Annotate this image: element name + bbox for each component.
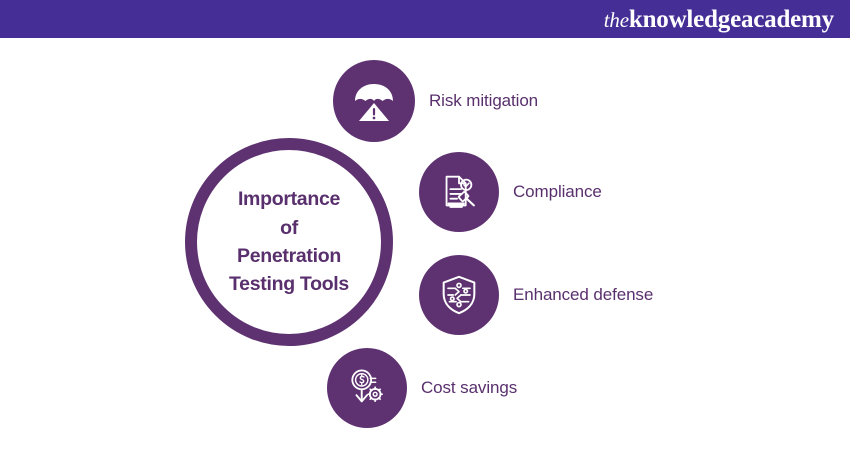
coin-gear-arrow-icon [344, 365, 390, 411]
node-risk-mitigation: Risk mitigation [333, 60, 538, 142]
page-header: theknowledgeacademy [0, 0, 850, 38]
central-topic-line-4: Testing Tools [199, 270, 379, 298]
compliance-icon-circle [419, 152, 499, 232]
diagram-canvas: Importance of Penetration Testing Tools [0, 38, 850, 450]
node-enhanced-defense: Enhanced defense [419, 255, 653, 335]
central-topic-circle: Importance of Penetration Testing Tools [185, 138, 393, 346]
risk-mitigation-label: Risk mitigation [429, 91, 538, 111]
circuit-shield-icon [436, 272, 482, 318]
enhanced-defense-label: Enhanced defense [513, 285, 653, 305]
umbrella-warning-icon [350, 77, 398, 125]
brand-logo: theknowledgeacademy [604, 7, 834, 32]
central-topic-line-1: Importance [199, 185, 379, 213]
cost-savings-icon-circle [327, 348, 407, 428]
risk-mitigation-icon-circle [333, 60, 415, 142]
central-topic-line-2: of [199, 214, 379, 242]
enhanced-defense-icon-circle [419, 255, 499, 335]
brand-logo-the: the [604, 8, 629, 32]
gavel-document-icon [436, 169, 482, 215]
central-topic-text: Importance of Penetration Testing Tools [199, 185, 379, 298]
central-topic-line-3: Penetration [199, 242, 379, 270]
brand-logo-main: knowledgeacademy [629, 6, 834, 33]
compliance-label: Compliance [513, 182, 602, 202]
cost-savings-label: Cost savings [421, 378, 517, 398]
node-compliance: Compliance [419, 152, 602, 232]
node-cost-savings: Cost savings [327, 348, 517, 428]
